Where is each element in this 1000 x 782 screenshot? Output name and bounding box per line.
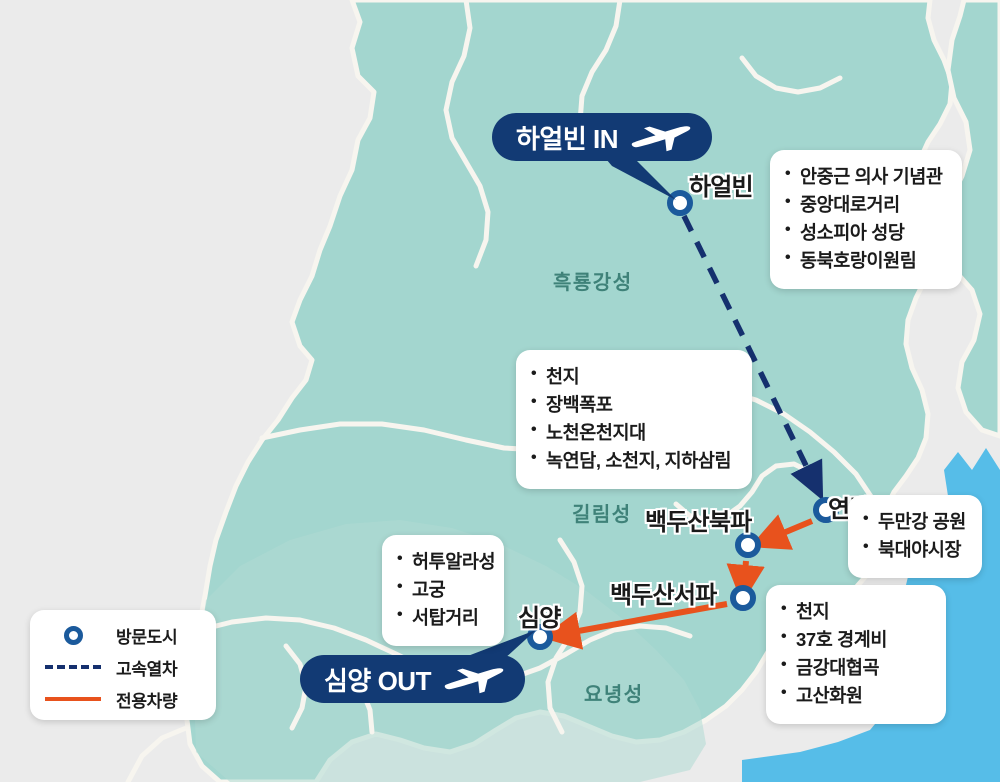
travel-route-map: 흑룡강성 길림성 요녕성 하얼빈 연길 백두산북파 백두산서파 심양 안중근 의… <box>0 0 1000 782</box>
info-item: 안중근 의사 기념관 <box>785 163 944 191</box>
arrival-flight-badge[interactable]: 하얼빈 IN <box>492 113 712 161</box>
info-item: 천지 <box>531 363 734 391</box>
legend-label: 방문도시 <box>116 623 177 648</box>
city-marker-harbin[interactable] <box>670 193 690 213</box>
province-label-heilongjiang: 흑룡강성 <box>553 266 633 295</box>
city-marker-icon <box>30 626 116 645</box>
map-legend: 방문도시 고속열차 전용차량 <box>30 610 216 720</box>
info-item: 허투알라성 <box>397 548 486 576</box>
legend-row-vehicle: 전용차량 <box>30 684 216 714</box>
info-item: 장백폭포 <box>531 391 734 419</box>
info-item: 금강대협곡 <box>781 654 928 682</box>
info-item: 37호 경계비 <box>781 626 928 654</box>
info-item: 서탑거리 <box>397 604 486 632</box>
legend-row-visit-city: 방문도시 <box>30 620 216 650</box>
info-card-harbin: 안중근 의사 기념관 중앙대로거리 성소피아 성당 동북호랑이원림 <box>770 150 962 289</box>
info-item: 고궁 <box>397 576 486 604</box>
info-item: 고산화원 <box>781 682 928 710</box>
city-label-harbin[interactable]: 하얼빈 <box>689 167 753 202</box>
solid-line-icon <box>30 697 116 701</box>
airplane-icon <box>630 122 692 152</box>
info-item: 동북호랑이원림 <box>785 247 944 275</box>
airplane-icon <box>443 664 505 694</box>
info-item: 두만강 공원 <box>863 508 964 536</box>
legend-row-train: 고속열차 <box>30 652 216 682</box>
info-card-baekdusan-north: 천지 장백폭포 노천온천지대 녹연담, 소천지, 지하삼림 <box>516 350 752 489</box>
info-item: 중앙대로거리 <box>785 191 944 219</box>
legend-label: 전용차량 <box>116 687 177 712</box>
departure-flight-badge[interactable]: 심양 OUT <box>300 655 525 703</box>
city-label-baekdusan-north[interactable]: 백두산북파 <box>645 502 751 537</box>
info-item: 북대야시장 <box>863 536 964 564</box>
province-label-jilin: 길림성 <box>572 498 632 527</box>
info-item: 노천온천지대 <box>531 419 734 447</box>
info-item: 성소피아 성당 <box>785 219 944 247</box>
info-card-shenyang: 허투알라성 고궁 서탑거리 <box>382 535 504 646</box>
info-card-yanji: 두만강 공원 북대야시장 <box>848 495 982 578</box>
info-item: 천지 <box>781 598 928 626</box>
city-marker-baekdusan-north[interactable] <box>738 535 758 555</box>
province-label-liaoning: 요녕성 <box>584 678 644 707</box>
legend-label: 고속열차 <box>116 655 177 680</box>
dashed-line-icon <box>30 665 116 669</box>
departure-badge-label: 심양 OUT <box>324 661 431 698</box>
city-label-shenyang[interactable]: 심양 <box>518 598 561 633</box>
info-item: 녹연담, 소천지, 지하삼림 <box>531 447 734 475</box>
city-label-baekdusan-west[interactable]: 백두산서파 <box>610 575 716 610</box>
city-marker-baekdusan-west[interactable] <box>733 588 753 608</box>
arrival-badge-label: 하얼빈 IN <box>516 119 618 156</box>
info-card-baekdusan-west: 천지 37호 경계비 금강대협곡 고산화원 <box>766 585 946 724</box>
route-car-bukpa-seopa <box>744 561 746 583</box>
